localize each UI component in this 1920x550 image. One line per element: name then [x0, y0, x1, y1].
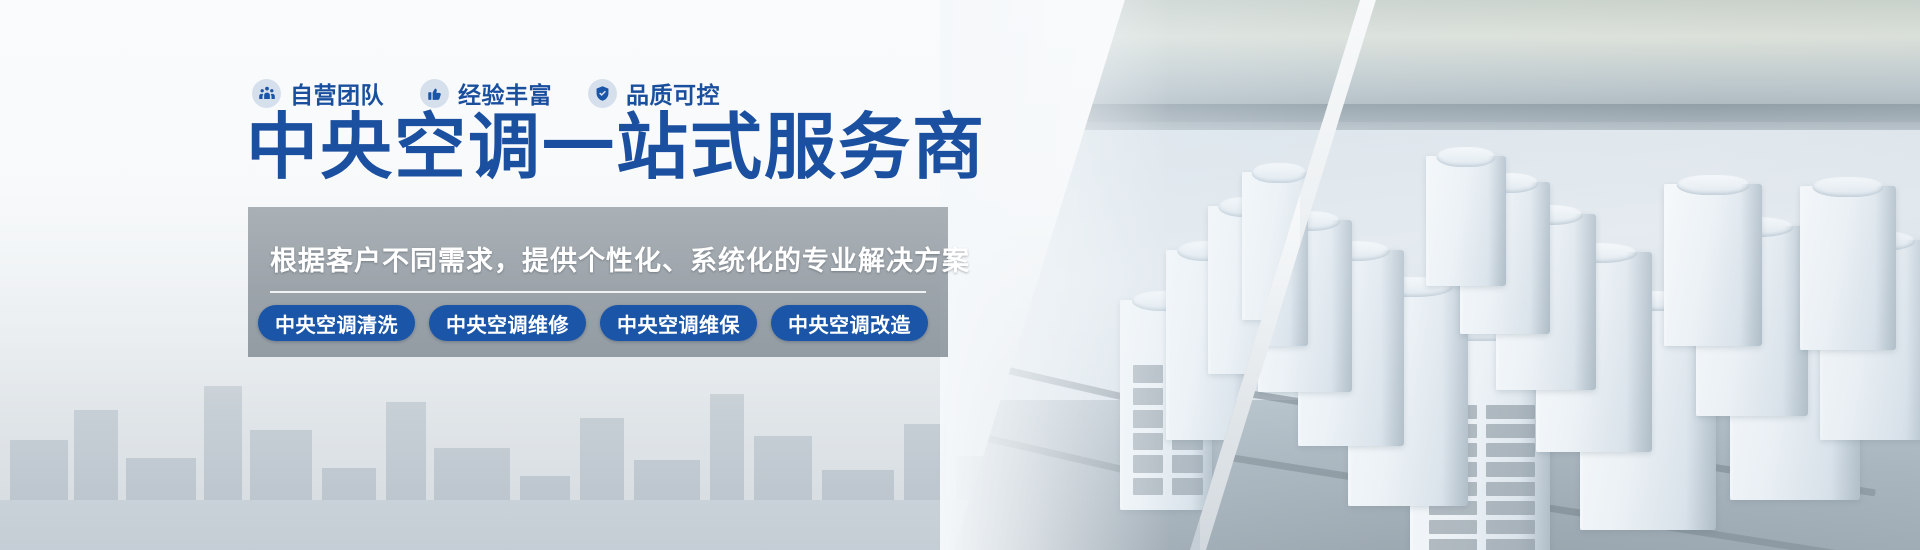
service-pill-retrofit[interactable]: 中央空调改造	[771, 305, 928, 341]
feature-badge-label: 自营团队	[290, 76, 384, 110]
shield-check-icon	[588, 79, 617, 108]
offer-panel: 根据客户不同需求，提供个性化、系统化的专业解决方案 中央空调清洗 中央空调维修 …	[248, 207, 948, 357]
service-pill-list: 中央空调清洗 中央空调维修 中央空调维保 中央空调改造	[258, 305, 928, 341]
feature-badge-rich-experience: 经验丰富	[420, 76, 552, 110]
feature-badge-label: 经验丰富	[458, 76, 552, 110]
hero-banner: 自营团队 经验丰富 品质可控	[0, 0, 1920, 550]
feature-badge-self-operated-team: 自营团队	[252, 76, 384, 110]
page-title: 中央空调一站式服务商	[246, 112, 986, 184]
feature-badge-quality-control: 品质可控	[588, 76, 720, 110]
feature-badge-list: 自营团队 经验丰富 品质可控	[252, 76, 720, 110]
feature-badge-label: 品质可控	[626, 76, 720, 110]
service-pill-maintenance[interactable]: 中央空调维保	[600, 305, 757, 341]
panel-subtitle: 根据客户不同需求，提供个性化、系统化的专业解决方案	[270, 239, 970, 278]
panel-divider	[270, 291, 926, 293]
service-pill-cleaning[interactable]: 中央空调清洗	[258, 305, 415, 341]
thumbs-up-icon	[420, 79, 449, 108]
hvac-photo	[940, 0, 1920, 550]
service-pill-repair[interactable]: 中央空调维修	[429, 305, 586, 341]
banner-content: 自营团队 经验丰富 品质可控	[0, 0, 1020, 550]
people-group-icon	[252, 79, 281, 108]
